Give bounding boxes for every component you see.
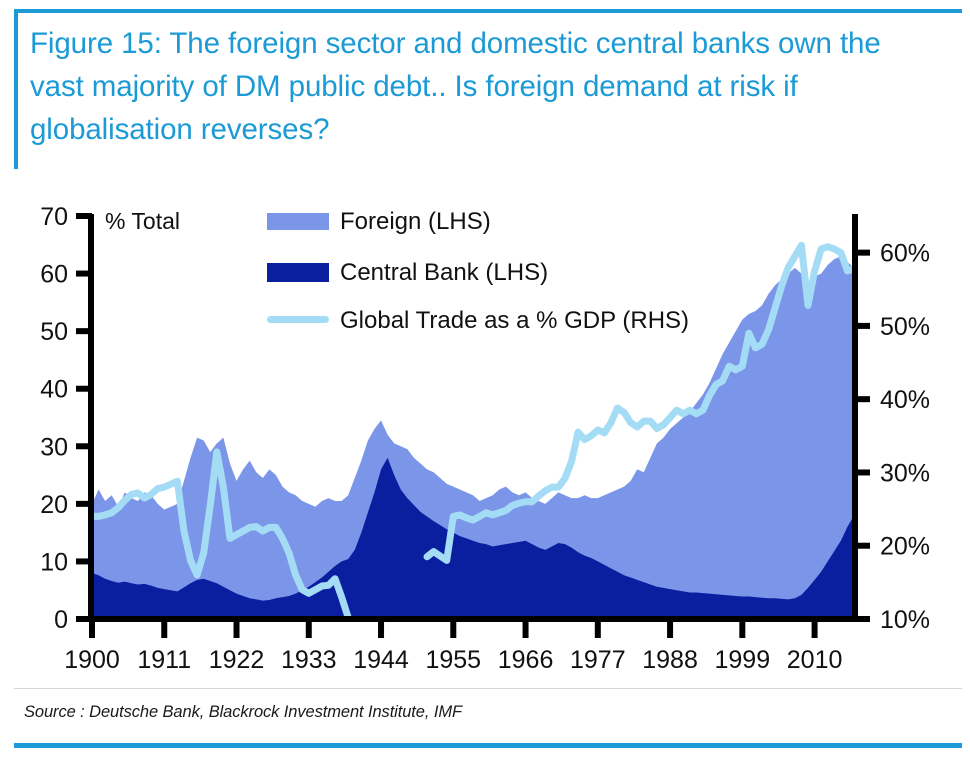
chart-plot-area: 010203040506070 10%20%30%40%50%60% 19001… [0, 176, 970, 676]
x-tick-mark [161, 622, 167, 638]
x-tick-label: 1966 [498, 646, 554, 674]
left-tick-label: 0 [54, 606, 68, 634]
x-tick-label: 1922 [209, 646, 265, 674]
right-tick-mark [854, 396, 870, 402]
left-tick-label: 10 [40, 548, 68, 576]
x-tick-mark [378, 622, 384, 638]
x-axis-ticks: 1900191119221933194419551966197719881999… [64, 622, 842, 674]
left-tick-label: 70 [40, 203, 68, 231]
right-tick-mark [854, 323, 870, 329]
legend-label-foreign: Foreign (LHS) [340, 208, 491, 235]
x-tick-mark [523, 622, 529, 638]
x-tick-mark [812, 622, 818, 638]
left-axis-unit-label: % Total [105, 208, 180, 234]
right-axis-spine [852, 214, 858, 622]
x-tick-mark [89, 622, 95, 638]
right-tick-label: 20% [880, 533, 930, 561]
x-tick-label: 1955 [425, 646, 481, 674]
left-tick-mark [76, 501, 92, 507]
right-tick-label: 10% [880, 606, 930, 634]
figure-container: Figure 15: The foreign sector and domest… [0, 0, 970, 764]
left-tick-mark [76, 616, 92, 622]
left-tick-mark [76, 443, 92, 449]
right-tick-label: 50% [880, 313, 930, 341]
x-tick-mark [450, 622, 456, 638]
left-tick-label: 20 [40, 491, 68, 519]
legend-label-central-bank: Central Bank (LHS) [340, 259, 548, 286]
x-tick-label: 1933 [281, 646, 337, 674]
x-tick-label: 1900 [64, 646, 120, 674]
x-tick-label: 1944 [353, 646, 409, 674]
x-tick-label: 1999 [715, 646, 771, 674]
right-tick-mark [854, 543, 870, 549]
figure-title: Figure 15: The foreign sector and domest… [30, 22, 942, 151]
x-tick-mark [667, 622, 673, 638]
right-tick-mark [854, 250, 870, 256]
x-tick-mark [595, 622, 601, 638]
legend-line-trade [267, 316, 329, 323]
x-tick-mark [234, 622, 240, 638]
x-tick-label: 1988 [642, 646, 698, 674]
left-tick-mark [76, 328, 92, 334]
right-axis-ticks: 10%20%30%40%50%60% [854, 240, 930, 634]
source-note: Source : Deutsche Bank, Blackrock Invest… [24, 703, 462, 722]
left-tick-mark [76, 213, 92, 219]
legend-swatch-central-bank [267, 263, 329, 282]
x-tick-label: 1977 [570, 646, 626, 674]
legend-label-trade: Global Trade as a % GDP (RHS) [340, 307, 689, 334]
bottom-accent-rule [14, 743, 962, 748]
left-tick-label: 60 [40, 261, 68, 289]
left-tick-mark [76, 271, 92, 277]
x-tick-mark [306, 622, 312, 638]
chart-svg: 010203040506070 10%20%30%40%50%60% 19001… [0, 176, 970, 676]
left-tick-mark [76, 558, 92, 564]
x-tick-mark [739, 622, 745, 638]
left-tick-label: 40 [40, 376, 68, 404]
left-accent-rule [14, 9, 18, 169]
bottom-axis-spine [88, 616, 858, 622]
left-tick-label: 30 [40, 433, 68, 461]
x-tick-label: 2010 [787, 646, 843, 674]
left-tick-mark [76, 386, 92, 392]
right-tick-label: 40% [880, 386, 930, 414]
legend-swatch-foreign [267, 213, 329, 230]
x-tick-label: 1911 [137, 646, 191, 674]
top-accent-rule [14, 9, 962, 13]
source-divider [14, 688, 962, 689]
left-tick-label: 50 [40, 318, 68, 346]
left-axis-ticks: 010203040506070 [40, 203, 92, 634]
right-tick-mark [854, 616, 870, 622]
right-tick-label: 30% [880, 459, 930, 487]
right-tick-label: 60% [880, 240, 930, 268]
right-tick-mark [854, 469, 870, 475]
